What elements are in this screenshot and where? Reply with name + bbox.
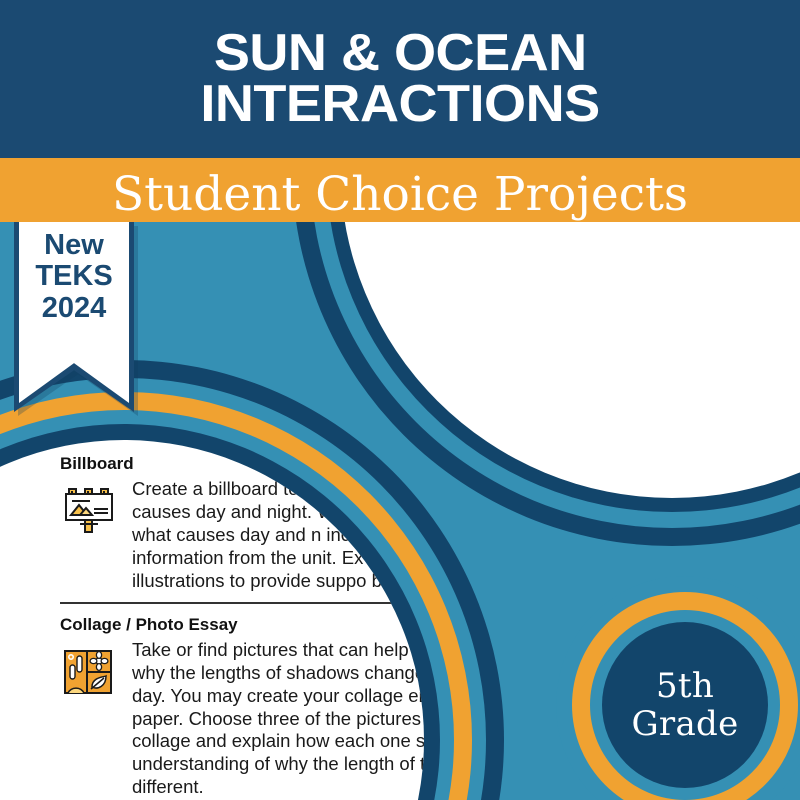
project-description: Create a billboard to explain how its ax… xyxy=(132,478,424,593)
ribbon-line-3: 2024 xyxy=(19,293,129,324)
title-banner: SUN & OCEAN INTERACTIONS xyxy=(0,0,800,158)
divider xyxy=(60,602,424,604)
grade-number: 5th xyxy=(656,667,714,705)
product-cover: ach project is worth 100 points. Your te… xyxy=(0,0,800,800)
grade-badge-label: 5th Grade xyxy=(602,622,768,788)
subtitle-banner: Student Choice Projects xyxy=(0,158,800,222)
page-subtitle: Student Choice Projects xyxy=(112,171,688,218)
ribbon-label: New TEKS 2024 xyxy=(19,230,129,324)
project-description: Take or find pictures that can help dem … xyxy=(132,639,424,800)
ribbon-line-1: New xyxy=(19,230,129,261)
ribbon-line-2: TEKS xyxy=(19,261,129,292)
list-item: Billboard xyxy=(60,450,424,593)
project-title: Billboard xyxy=(60,454,424,474)
projects-document: Billboard xyxy=(60,450,424,800)
page-title-line-2: INTERACTIONS xyxy=(200,79,599,130)
projects-page: Billboard xyxy=(0,440,424,800)
list-item: Collage / Photo Essay xyxy=(60,611,424,800)
project-title: Collage / Photo Essay xyxy=(60,615,424,635)
page-title-line-1: SUN & OCEAN xyxy=(214,28,587,79)
collage-icon xyxy=(60,643,118,701)
billboard-icon xyxy=(60,482,118,540)
new-teks-ribbon: New TEKS 2024 xyxy=(14,222,134,412)
grade-word: Grade xyxy=(631,705,738,743)
